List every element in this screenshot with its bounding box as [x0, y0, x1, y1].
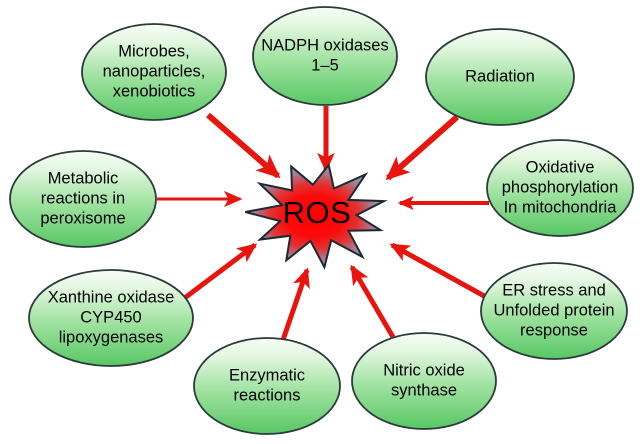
- node-label-xanthine: lipoxygenases: [59, 328, 164, 346]
- node-label-microbes: xenobiotics: [113, 82, 196, 100]
- node-label-erstress: Unfolded protein: [493, 301, 614, 319]
- node-label-oxphos: In mitochondria: [504, 198, 618, 216]
- node-nadph-oxidases[interactable]: NADPH oxidases1–5: [253, 7, 397, 105]
- node-label-metabolic: Metabolic: [48, 169, 119, 187]
- node-label-oxphos: phosphorylation: [502, 178, 619, 196]
- node-label-nos: synthase: [391, 381, 457, 399]
- node-label-radiation: Radiation: [465, 67, 535, 85]
- node-nitric-oxide-synthase[interactable]: Nitric oxidesynthase: [352, 333, 496, 429]
- node-label-metabolic: reactions in: [41, 189, 125, 207]
- node-label-nos: Nitric oxide: [383, 361, 465, 379]
- node-er-stress-unfolded-protein-response[interactable]: ER stress andUnfolded proteinresponse: [481, 263, 627, 359]
- node-label-microbes: nanoparticles,: [103, 62, 206, 80]
- node-label-metabolic: peroxisome: [40, 209, 125, 227]
- node-label-enzymatic: Enzymatic: [229, 366, 305, 384]
- node-enzymatic-reactions[interactable]: Enzymaticreactions: [194, 338, 340, 434]
- node-label-nadph: NADPH oxidases: [261, 36, 388, 54]
- node-label-enzymatic: reactions: [234, 386, 301, 404]
- node-label-xanthine: Xanthine oxidase: [48, 288, 175, 306]
- ros-center-label: ROS: [283, 195, 352, 230]
- node-label-erstress: ER stress and: [502, 281, 606, 299]
- ros-starburst: ROS: [245, 165, 384, 267]
- node-label-xanthine: CYP450: [80, 308, 141, 326]
- arrow-radiation-to-ros: [388, 117, 457, 178]
- ros-sources-diagram: ROS Microbes,nanoparticles,xenobioticsNA…: [0, 0, 640, 444]
- arrow-erstress-to-ros: [392, 245, 486, 297]
- node-microbes-nanoparticles-xenobiotics[interactable]: Microbes,nanoparticles,xenobiotics: [82, 24, 226, 120]
- node-oxidative-phosphorylation[interactable]: OxidativephosphorylationIn mitochondria: [487, 140, 633, 236]
- node-label-erstress: response: [520, 321, 588, 339]
- arrow-enzymatic-to-ros: [283, 270, 307, 340]
- node-label-microbes: Microbes,: [118, 42, 190, 60]
- node-radiation[interactable]: Radiation: [426, 29, 574, 125]
- node-metabolic-reactions-in-peroxisome[interactable]: Metabolicreactions inperoxisome: [10, 151, 156, 247]
- arrow-nos-to-ros: [352, 267, 393, 337]
- node-xanthine-oxidase-cyp450-lipoxygenases[interactable]: Xanthine oxidaseCYP450lipoxygenases: [29, 270, 193, 366]
- node-label-oxphos: Oxidative: [526, 158, 595, 176]
- diagram-canvas: ROS Microbes,nanoparticles,xenobioticsNA…: [0, 0, 640, 444]
- arrow-xanthine-to-ros: [178, 245, 255, 303]
- arrow-microbes-to-ros: [208, 115, 278, 176]
- node-label-nadph: 1–5: [311, 56, 339, 74]
